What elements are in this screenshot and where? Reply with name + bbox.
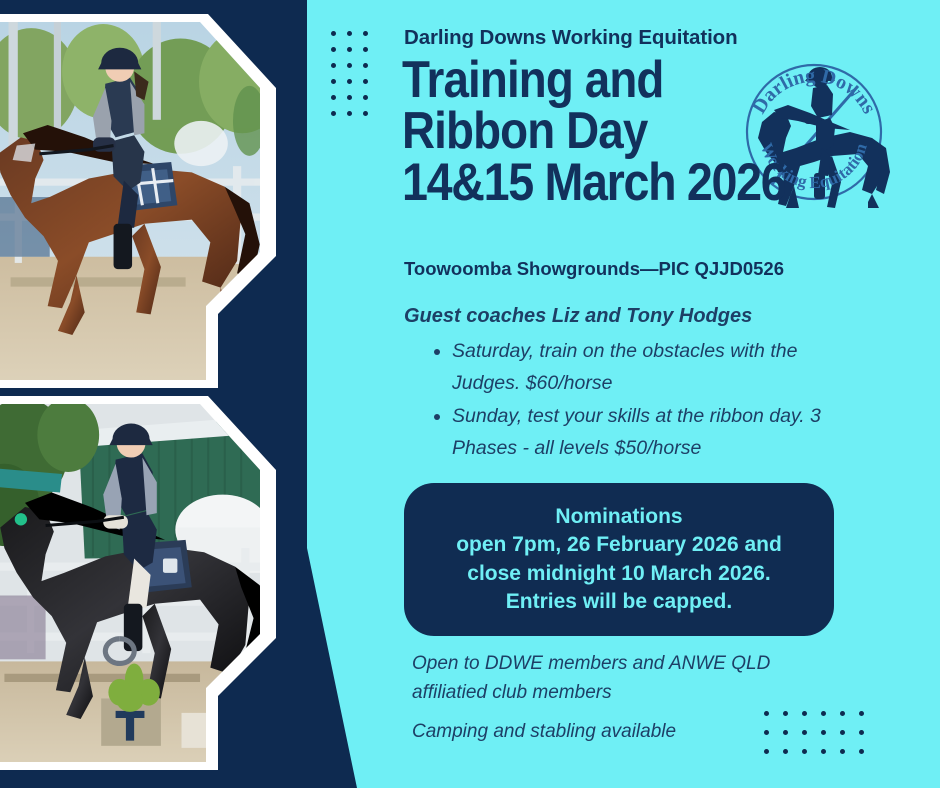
eligibility-note: Open to DDWE members and ANWE QLD affili… <box>412 653 770 703</box>
dot <box>363 63 368 68</box>
dot <box>347 31 352 36</box>
headline-line-2: Ribbon Day <box>402 106 719 157</box>
nominations-callout-box: Nominations open 7pm, 26 February 2026 a… <box>404 483 834 636</box>
page-title: Training and Ribbon Day 14&15 March 2026 <box>402 55 719 209</box>
guest-coaches-line: Guest coaches Liz and Tony Hodges <box>404 305 752 328</box>
dot <box>363 95 368 100</box>
dot <box>331 79 336 84</box>
dot <box>331 63 336 68</box>
dot <box>363 47 368 52</box>
dot-grid-top-left <box>331 31 379 127</box>
venue-line: Toowoomba Showgrounds—PIC QJJD0526 <box>404 258 784 280</box>
nominations-line-3: close midnight 10 March 2026. <box>467 560 770 588</box>
dot <box>331 47 336 52</box>
footer-notes: Open to DDWE members and ANWE QLD affili… <box>412 650 832 747</box>
nominations-line-2: open 7pm, 26 February 2026 and <box>456 531 782 559</box>
details-list: Saturday, train on the obstacles with th… <box>426 336 852 466</box>
list-item: Sunday, test your skills at the ribbon d… <box>452 401 852 464</box>
dot <box>347 79 352 84</box>
dot <box>363 31 368 36</box>
headline-line-1: Training and <box>402 55 719 106</box>
dot <box>331 95 336 100</box>
dot <box>331 31 336 36</box>
footer-spacer <box>412 708 832 718</box>
headline-line-3: 14&15 March 2026 <box>402 157 719 209</box>
nominations-line-1: Nominations <box>555 503 682 531</box>
content-column: Darling Downs Working Equitation Trainin… <box>404 0 940 788</box>
organisation-name: Darling Downs Working Equitation <box>404 26 738 50</box>
list-item: Saturday, train on the obstacles with th… <box>452 336 852 399</box>
dot <box>363 111 368 116</box>
nominations-line-4: Entries will be capped. <box>506 588 732 616</box>
dot <box>347 95 352 100</box>
dot <box>331 111 336 116</box>
dot <box>347 111 352 116</box>
dot <box>363 79 368 84</box>
dot <box>347 47 352 52</box>
poster-canvas: Darling Downs Working Equitation Darling… <box>0 0 940 788</box>
dot <box>347 63 352 68</box>
facilities-note: Camping and stabling available <box>412 721 676 742</box>
